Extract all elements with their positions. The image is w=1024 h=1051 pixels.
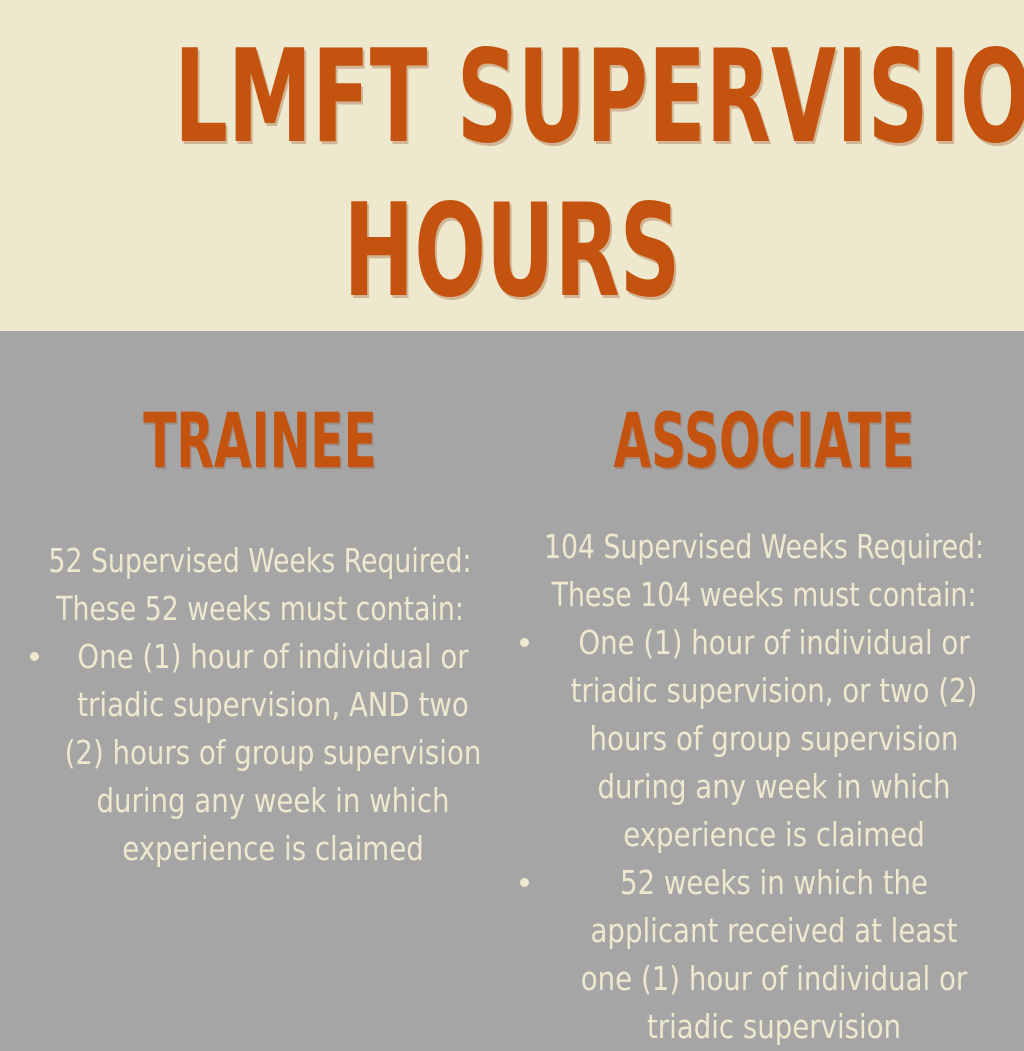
list-item: One (1) hour of individual or triadic su… [512, 619, 1016, 859]
header-band: LMFT SUPERVISION HOURS [0, 0, 1024, 331]
column-trainee-heading: TRAINEE [99, 403, 422, 479]
infographic-poster: LMFT SUPERVISION HOURS TRAINEE 52 Superv… [0, 0, 1024, 1024]
column-associate-heading: ASSOCIATE [603, 403, 926, 479]
intro-line: These 104 weeks must contain: [537, 571, 991, 619]
list-item: One (1) hour of individual or triadic su… [8, 633, 512, 873]
bullet-dot-icon [30, 652, 39, 661]
page-title-line-1: LMFT SUPERVISION [174, 34, 850, 162]
body-band: TRAINEE 52 Supervised Weeks Required: Th… [0, 331, 1024, 1024]
list-item: 52 weeks in which the applicant received… [512, 859, 1016, 1051]
bullet-dot-icon [520, 638, 529, 647]
intro-line: 52 Supervised Weeks Required: [33, 537, 487, 585]
column-associate-body: 104 Supervised Weeks Required: These 104… [512, 523, 1016, 1051]
page-title-line-2: HOURS [174, 188, 850, 316]
list-item-label: One (1) hour of individual or triadic su… [562, 619, 986, 859]
column-associate-bullet-list: One (1) hour of individual or triadic su… [512, 619, 1016, 1051]
list-item-label: One (1) hour of individual or triadic su… [64, 633, 483, 873]
list-item-label: 52 weeks in which the applicant received… [562, 859, 986, 1051]
column-trainee-intro: 52 Supervised Weeks Required: These 52 w… [8, 537, 512, 633]
intro-line: 104 Supervised Weeks Required: [537, 523, 991, 571]
column-trainee-bullet-list: One (1) hour of individual or triadic su… [8, 633, 512, 873]
intro-line: These 52 weeks must contain: [33, 585, 487, 633]
bullet-dot-icon [520, 878, 529, 887]
column-trainee-body: 52 Supervised Weeks Required: These 52 w… [8, 537, 512, 873]
column-associate-intro: 104 Supervised Weeks Required: These 104… [512, 523, 1016, 619]
